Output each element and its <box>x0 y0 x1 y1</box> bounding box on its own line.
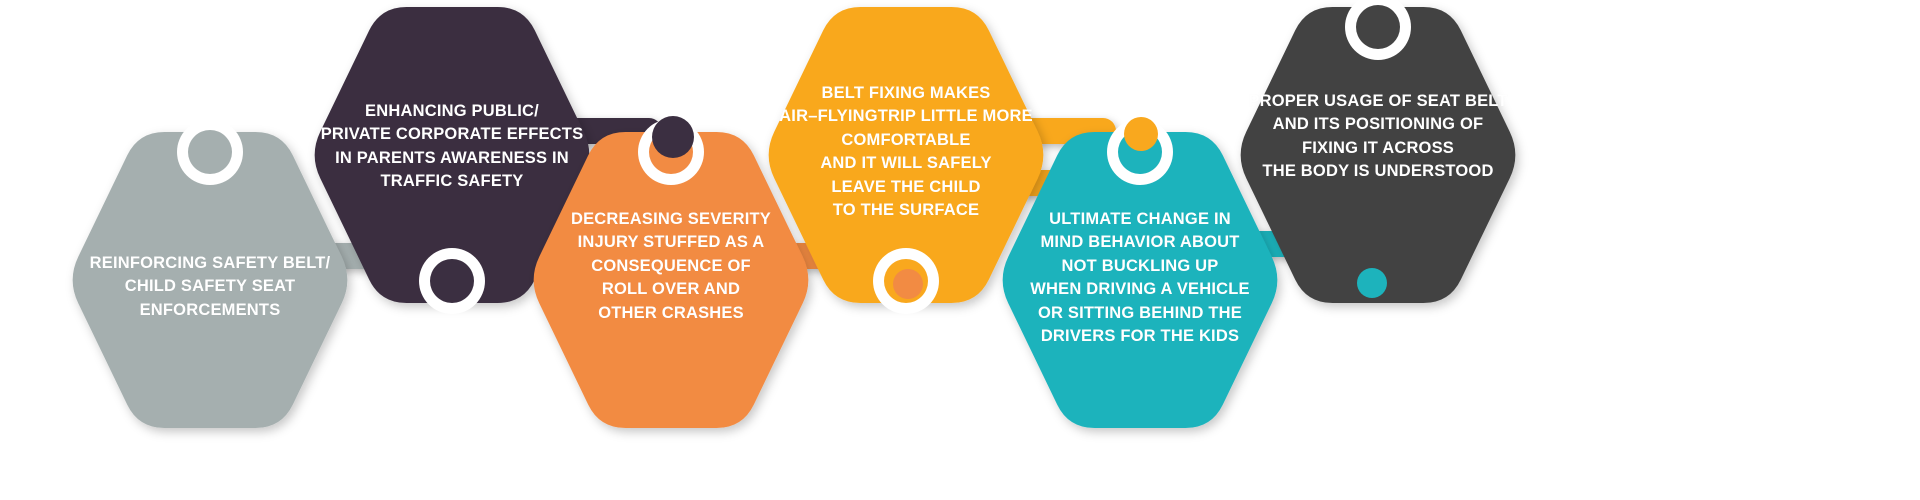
accent-dot-belt-fixing-comfortable <box>1112 105 1170 163</box>
notch-dot <box>188 130 232 174</box>
accent-dot-ultimate-change-mind-behavior <box>1345 256 1399 310</box>
notch-dot <box>1356 5 1400 49</box>
infographic-canvas: REINFORCING SAFETY BELT/ CHILD SAFETY SE… <box>0 0 1920 500</box>
accent-dot-decreasing-severity-injury <box>881 257 935 311</box>
accent-dot-enhancing-public-private-corporate <box>640 104 706 170</box>
notch-dot <box>430 259 474 303</box>
